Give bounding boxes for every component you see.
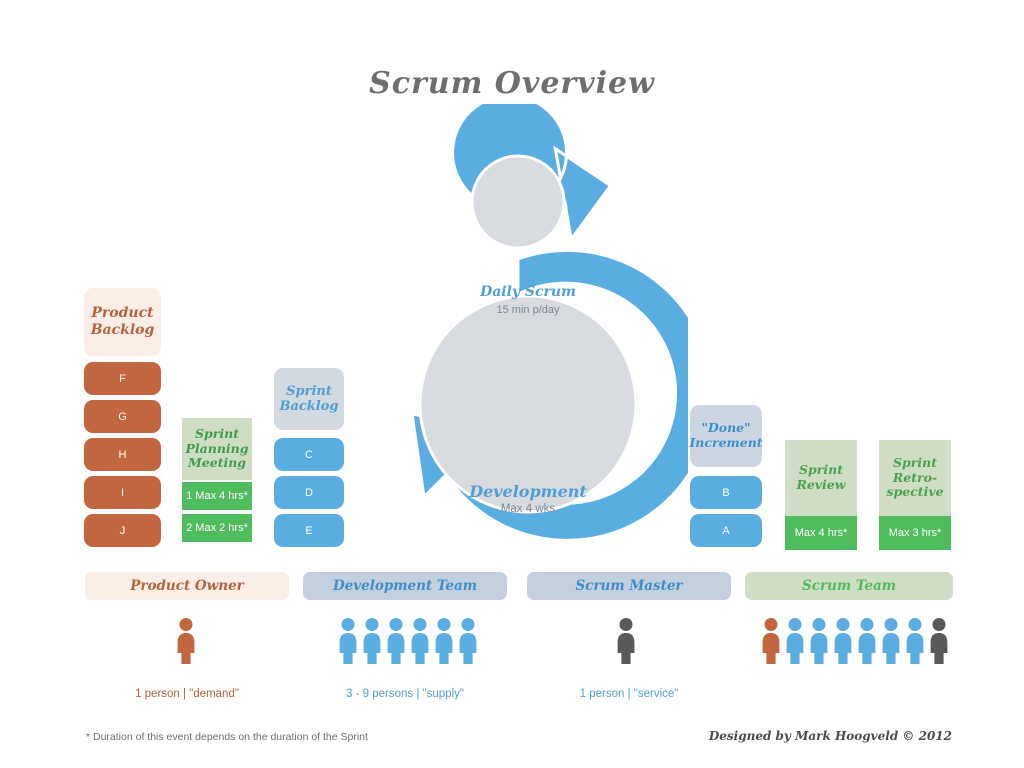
daily-scrum-ring bbox=[444, 104, 619, 257]
person-icon bbox=[433, 617, 455, 665]
daily-scrum-label: Daily Scrum bbox=[368, 284, 688, 300]
person-icon bbox=[361, 617, 383, 665]
sprint-review-header: Sprint Review bbox=[785, 440, 857, 516]
product-owner-figures bbox=[175, 617, 197, 665]
product-backlog-item-h[interactable]: H bbox=[84, 438, 161, 471]
product-owner-caption: 1 person | "demand" bbox=[85, 688, 289, 700]
person-icon bbox=[808, 617, 830, 665]
person-icon bbox=[880, 617, 902, 665]
person-icon bbox=[784, 617, 806, 665]
sprint-retrospective-header: Sprint Retro- spective bbox=[879, 440, 951, 516]
scrum-master-caption: 1 person | "service" bbox=[527, 688, 731, 700]
daily-scrum-duration: 15 min p/day bbox=[368, 304, 688, 316]
person-icon bbox=[856, 617, 878, 665]
development-duration: Max 4 wks bbox=[368, 503, 688, 515]
scrum-master-figures bbox=[615, 617, 637, 665]
person-icon bbox=[928, 617, 950, 665]
product-backlog-item-f[interactable]: F bbox=[84, 362, 161, 395]
designer-credit: Designed by Mark Hoogveld © 2012 bbox=[0, 729, 952, 743]
sprint-backlog-header: Sprint Backlog bbox=[274, 368, 344, 430]
product-backlog-item-i[interactable]: I bbox=[84, 476, 161, 509]
development-label: Development bbox=[368, 482, 688, 501]
sprint-planning-part-1[interactable]: 1 Max 4 hrs* bbox=[182, 482, 252, 510]
sprint-planning-part-2[interactable]: 2 Max 2 hrs* bbox=[182, 514, 252, 542]
scrum-team-figures bbox=[760, 617, 950, 665]
person-icon bbox=[385, 617, 407, 665]
product-backlog-item-j[interactable]: J bbox=[84, 514, 161, 547]
person-icon bbox=[615, 617, 637, 665]
product-backlog-item-g[interactable]: G bbox=[84, 400, 161, 433]
sprint-backlog-item-d[interactable]: D bbox=[274, 476, 344, 509]
scrum-cycle-graphic: Daily Scrum 15 min p/day Development Max… bbox=[368, 104, 688, 554]
person-icon bbox=[457, 617, 479, 665]
sprint-planning-meeting-header: Sprint Planning Meeting bbox=[182, 418, 252, 480]
sprint-backlog-item-e[interactable]: E bbox=[274, 514, 344, 547]
person-icon bbox=[175, 617, 197, 665]
diagram-canvas: Scrum Overview Daily Scrum 15 min p/day … bbox=[0, 0, 1024, 768]
role-bar-development-team[interactable]: Development Team bbox=[303, 572, 507, 600]
sprint-retrospective-duration[interactable]: Max 3 hrs* bbox=[879, 516, 951, 550]
person-icon bbox=[832, 617, 854, 665]
person-icon bbox=[760, 617, 782, 665]
person-icon bbox=[904, 617, 926, 665]
done-increment-header: "Done" Increment bbox=[690, 405, 762, 467]
person-icon bbox=[409, 617, 431, 665]
sprint-review-duration[interactable]: Max 4 hrs* bbox=[785, 516, 857, 550]
done-increment-item-a[interactable]: A bbox=[690, 514, 762, 547]
development-team-figures bbox=[337, 617, 479, 665]
sprint-backlog-item-c[interactable]: C bbox=[274, 438, 344, 471]
role-bar-scrum-team[interactable]: Scrum Team bbox=[745, 572, 953, 600]
person-icon bbox=[337, 617, 359, 665]
development-team-caption: 3 - 9 persons | "supply" bbox=[303, 688, 507, 700]
role-bar-scrum-master[interactable]: Scrum Master bbox=[527, 572, 731, 600]
product-backlog-header: Product Backlog bbox=[84, 288, 161, 356]
page-title: Scrum Overview bbox=[0, 66, 1024, 101]
done-increment-item-b[interactable]: B bbox=[690, 476, 762, 509]
role-bar-product-owner[interactable]: Product Owner bbox=[85, 572, 289, 600]
